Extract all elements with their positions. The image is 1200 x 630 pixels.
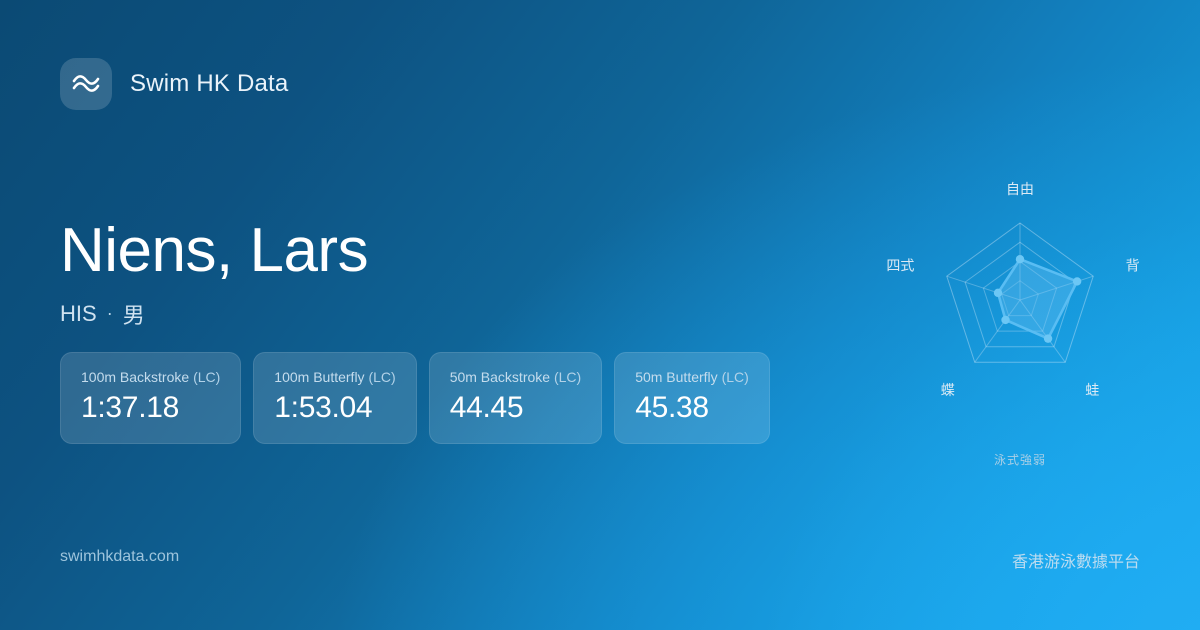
poster-canvas: Swim HK Data Niens, Lars HIS · 男 100m Ba… [0,0,1200,630]
stat-card-value: 45.38 [635,391,749,425]
radar-axis-label: 四式 [886,258,914,274]
radar-data-point[interactable] [1016,255,1024,263]
page-title: Niens, Lars [60,218,368,284]
stat-event-name: 50m Butterfly [635,369,717,385]
radar-series-area [998,259,1077,338]
stat-card-list: 100m Backstroke (LC) 1:37.18 100m Butter… [60,352,770,444]
stat-card[interactable]: 100m Backstroke (LC) 1:37.18 [60,352,241,444]
stat-card-value: 1:53.04 [274,391,395,425]
stat-card-label: 50m Butterfly (LC) [635,369,749,385]
stat-event-name: 100m Backstroke [81,369,189,385]
stat-card[interactable]: 50m Butterfly (LC) 45.38 [614,352,770,444]
stat-card-label: 100m Butterfly (LC) [274,369,395,385]
radar-axis-label: 自由 [1006,181,1034,197]
athlete-gender: 男 [123,298,145,330]
athlete-meta: HIS · 男 [60,298,368,330]
footer-tagline: 香港游泳數據平台 [1012,548,1140,572]
stat-card-label: 50m Backstroke (LC) [450,369,582,385]
footer-site-url: swimhkdata.com [60,548,179,566]
stat-course-type: (LC) [722,369,749,385]
stat-card[interactable]: 100m Butterfly (LC) 1:53.04 [253,352,416,444]
hero-block: Niens, Lars HIS · 男 [60,218,368,330]
stat-event-name: 100m Butterfly [274,369,364,385]
wave-approx-icon [60,58,112,110]
radar-data-point[interactable] [994,289,1002,297]
brand-header: Swim HK Data [60,58,288,110]
athlete-club: HIS [60,301,97,327]
stat-card[interactable]: 50m Backstroke (LC) 44.45 [429,352,603,444]
radar-data-point[interactable] [1073,277,1081,285]
stat-course-type: (LC) [554,369,581,385]
radar-chart-caption: 泳式強弱 [870,451,1170,468]
stat-course-type: (LC) [368,369,395,385]
radar-chart: 自由背蛙蝶四式 泳式強弱 [870,170,1170,470]
stat-card-value: 1:37.18 [81,391,220,425]
meta-separator: · [107,303,113,324]
radar-axis-label: 背 [1126,258,1140,274]
stat-event-name: 50m Backstroke [450,369,550,385]
stat-card-label: 100m Backstroke (LC) [81,369,220,385]
radar-axis-label: 蝶 [941,382,955,398]
stat-course-type: (LC) [193,369,220,385]
radar-data-point[interactable] [1044,334,1052,342]
brand-name: Swim HK Data [130,70,288,98]
stat-card-value: 44.45 [450,391,582,425]
radar-data-point[interactable] [1001,316,1009,324]
radar-axis-label: 蛙 [1085,382,1099,398]
